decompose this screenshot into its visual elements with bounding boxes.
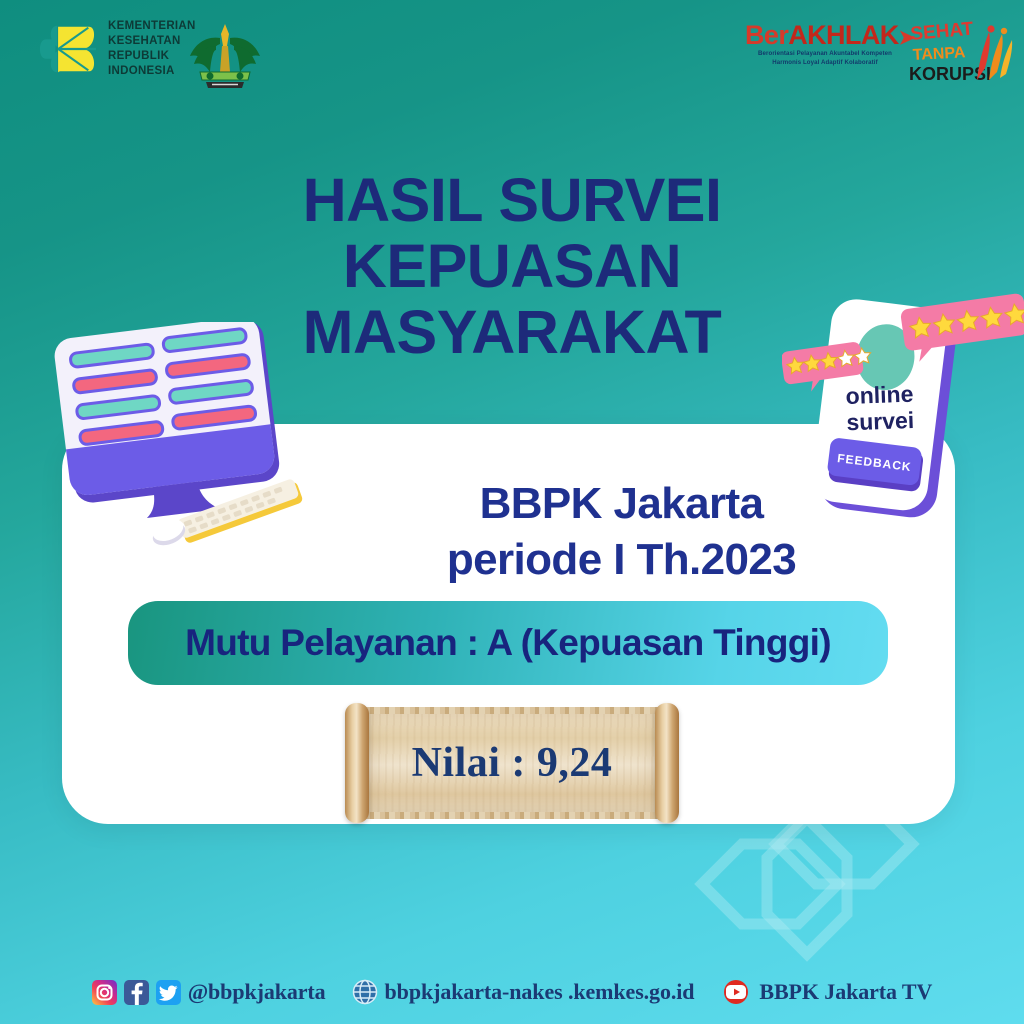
quality-banner-text: Mutu Pelayanan : A (Kepuasan Tinggi) bbox=[185, 622, 831, 664]
sehat-tanpa-korupsi-logo: SEHAT TANPA KORUPSI bbox=[905, 18, 1015, 90]
title-line-1: HASIL SURVEI bbox=[0, 168, 1024, 234]
kemenkes-mark-icon bbox=[36, 18, 98, 80]
phone-screen-text-line-2: survei bbox=[846, 407, 915, 435]
scroll-rod-right bbox=[655, 703, 679, 823]
quality-banner: Mutu Pelayanan : A (Kepuasan Tinggi) bbox=[128, 601, 888, 685]
social-media-group: @bbpkjakarta bbox=[92, 979, 326, 1005]
score-value-text: Nilai : 9,24 bbox=[412, 739, 613, 787]
social-handle-text: @bbpkjakarta bbox=[188, 979, 326, 1005]
scroll-rod-left bbox=[345, 703, 369, 823]
scroll-paper: Nilai : 9,24 bbox=[365, 711, 659, 815]
phone-online-survey-illustration: online survei FEEDBACK bbox=[782, 288, 1024, 550]
berakhlak-subtitle-line-1: Berorientasi Pelayanan Akuntabel Kompete… bbox=[745, 50, 905, 59]
berakhlak-subtitle-line-2: Harmonis Loyal Adaptif Kolaboratif bbox=[745, 59, 905, 68]
website-text: bbpkjakarta-nakes .kemkes.go.id bbox=[385, 979, 695, 1005]
berakhlak-subtitle: Berorientasi Pelayanan Akuntabel Kompete… bbox=[745, 50, 905, 68]
phone-screen-text-line-1: online bbox=[845, 381, 914, 409]
footer-bar: @bbpkjakarta bbpkjakarta-nakes .kemkes.g… bbox=[0, 960, 1024, 1024]
youtube-group: BBPK Jakarta TV bbox=[720, 979, 932, 1005]
berakhlak-part-2: AKHLAK bbox=[788, 20, 898, 50]
kemenkes-line-2: KESEHATAN bbox=[108, 34, 196, 49]
garuda-emblem-icon bbox=[186, 16, 264, 96]
facebook-icon[interactable] bbox=[124, 980, 149, 1005]
kemenkes-logo: KEMENTERIAN KESEHATAN REPUBLIK INDONESIA bbox=[36, 18, 196, 80]
stk-line-2: TANPA bbox=[912, 44, 966, 64]
score-scroll: Nilai : 9,24 bbox=[343, 703, 681, 823]
globe-icon[interactable] bbox=[352, 979, 378, 1005]
kemenkes-line-1: KEMENTERIAN bbox=[108, 19, 196, 34]
kemenkes-line-3: REPUBLIK bbox=[108, 49, 196, 64]
website-group: bbpkjakarta-nakes .kemkes.go.id bbox=[352, 979, 695, 1005]
stk-line-1: SEHAT bbox=[910, 19, 975, 45]
desktop-survey-illustration bbox=[52, 322, 332, 572]
berakhlak-part-1: Ber bbox=[745, 20, 788, 50]
stk-figures-icon bbox=[977, 25, 1012, 80]
poster-canvas: KEMENTERIAN KESEHATAN REPUBLIK INDONESIA… bbox=[0, 0, 1024, 1024]
berakhlak-logo: BerAKHLAK➤ Berorientasi Pelayanan Akunta… bbox=[745, 22, 905, 68]
youtube-icon[interactable] bbox=[720, 980, 752, 1004]
twitter-icon[interactable] bbox=[156, 980, 181, 1005]
kemenkes-line-4: INDONESIA bbox=[108, 64, 196, 79]
berakhlak-wordmark: BerAKHLAK➤ bbox=[745, 22, 905, 49]
kemenkes-logo-text: KEMENTERIAN KESEHATAN REPUBLIK INDONESIA bbox=[108, 19, 196, 79]
youtube-text: BBPK Jakarta TV bbox=[759, 979, 932, 1005]
instagram-icon[interactable] bbox=[92, 980, 117, 1005]
